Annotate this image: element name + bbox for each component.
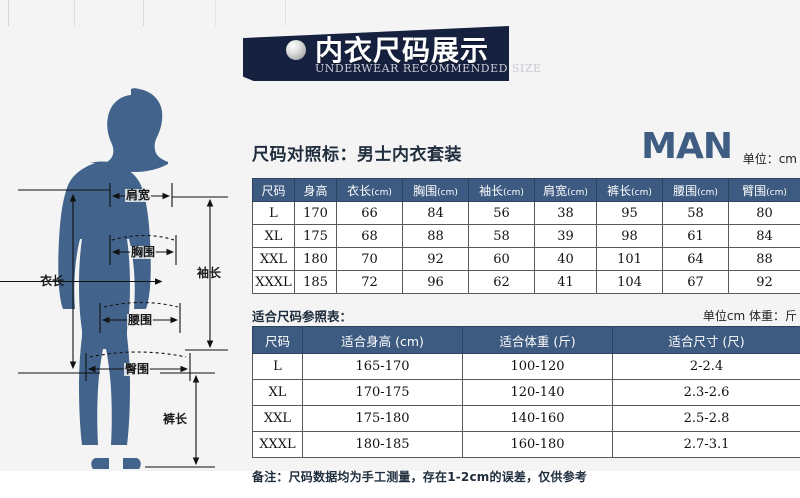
table-cell: 38 <box>535 202 597 225</box>
content-column: 尺码对照标：男士内衣套装 MAN 单位：cm 尺码身高衣长(cm)胸围(cm)袖… <box>252 128 800 485</box>
table-row: L17066845638955880 <box>253 202 800 225</box>
table-cell: 2-2.4 <box>613 354 800 380</box>
table-row: XXXL185729662411046792 <box>253 271 800 294</box>
size-table-header-cell: 袖长(cm) <box>469 179 535 202</box>
table-cell: 70 <box>337 248 403 271</box>
table-cell: 41 <box>535 271 597 294</box>
table-cell: 104 <box>597 271 663 294</box>
table-cell: 95 <box>597 202 663 225</box>
fit-table-unit-note: 单位cm 体重：斤 <box>703 307 797 324</box>
table-cell: 40 <box>535 248 597 271</box>
diagram-label-pants: 裤长 <box>162 413 188 426</box>
header-unit: (cm) <box>697 188 718 198</box>
banner-title-en: UNDERWEAR RECOMMENDED SIZE <box>315 62 542 75</box>
title-banner: 内衣尺码展示 UNDERWEAR RECOMMENDED SIZE <box>243 26 509 81</box>
table-cell: XXL <box>253 406 303 432</box>
table-cell: 2.3-2.6 <box>613 380 800 406</box>
table-row: XL17568885839986184 <box>253 225 800 248</box>
table-cell: 2.5-2.8 <box>613 406 800 432</box>
table-cell: 165-170 <box>303 354 463 380</box>
table-cell: 100-120 <box>463 354 613 380</box>
fit-table-header-cell: 适合身高 (cm) <box>303 327 463 354</box>
table-cell: 92 <box>403 248 469 271</box>
table-cell: XL <box>253 225 295 248</box>
header-unit: (cm) <box>631 188 652 198</box>
size-table-header-cell: 尺码 <box>253 179 295 202</box>
size-table-header-cell: 衣长(cm) <box>337 179 403 202</box>
table-cell: 68 <box>337 225 403 248</box>
fit-table-header-cell: 适合体重 (斤) <box>463 327 613 354</box>
table-cell: 72 <box>337 271 403 294</box>
header-unit: (cm) <box>567 188 588 198</box>
man-heading: MAN <box>641 126 732 167</box>
fit-table-head-row: 适合尺码参照表： 单位cm 体重：斤 <box>252 302 800 326</box>
table-cell: 175 <box>295 225 337 248</box>
table-cell: 180 <box>295 248 337 271</box>
table-cell: 84 <box>729 225 800 248</box>
header-unit: (cm) <box>437 188 458 198</box>
table-cell: L <box>253 202 295 225</box>
size-table-body: L17066845638955880XL17568885839986184XXL… <box>253 202 800 294</box>
size-table-header-cell: 臂围(cm) <box>729 179 800 202</box>
table-cell: 84 <box>403 202 469 225</box>
table-cell: 170-175 <box>303 380 463 406</box>
header-unit: (cm) <box>371 188 392 198</box>
size-table-header-row: 尺码身高衣长(cm)胸围(cm)袖长(cm)肩宽(cm)裤长(cm)腰围(cm)… <box>253 179 800 202</box>
banner-bullet-icon <box>286 40 306 60</box>
table-row: XXL180709260401016488 <box>253 248 800 271</box>
table-cell: 2.7-3.1 <box>613 432 800 458</box>
table-cell: 180-185 <box>303 432 463 458</box>
table-cell: 101 <box>597 248 663 271</box>
diagram-label-waist: 腰围 <box>127 314 153 327</box>
size-chart-page: 内衣尺码展示 UNDERWEAR RECOMMENDED SIZE <box>0 0 800 498</box>
measurement-diagram: 肩宽 胸围 腰围 臀围 衣长 袖长 裤长 <box>0 85 250 471</box>
unit-note: 单位：cm <box>743 150 797 167</box>
table-cell: 92 <box>729 271 800 294</box>
top-streak-artifacts <box>0 0 800 26</box>
table-cell: 39 <box>535 225 597 248</box>
size-table-header-cell: 胸围(cm) <box>403 179 469 202</box>
chart-title-row: 尺码对照标：男士内衣套装 MAN 单位：cm <box>252 128 800 178</box>
size-measurement-table: 尺码身高衣长(cm)胸围(cm)袖长(cm)肩宽(cm)裤长(cm)腰围(cm)… <box>252 178 800 294</box>
table-cell: 66 <box>337 202 403 225</box>
fit-table-title: 适合尺码参照表： <box>252 306 352 325</box>
table-cell: 88 <box>403 225 469 248</box>
table-cell: 88 <box>729 248 800 271</box>
chart-title: 尺码对照标：男士内衣套装 <box>252 140 462 165</box>
diagram-label-length: 衣长 <box>39 275 65 288</box>
table-cell: XXL <box>253 248 295 271</box>
fit-reference-table: 尺码适合身高 (cm)适合体重 (斤)适合尺寸 (尺) L165-170100-… <box>252 326 800 458</box>
table-cell: XXXL <box>253 271 295 294</box>
diagram-label-hip: 臀围 <box>124 363 150 376</box>
table-cell: 175-180 <box>303 406 463 432</box>
table-cell: 58 <box>469 225 535 248</box>
table-cell: 140-160 <box>463 406 613 432</box>
size-table-header-cell: 裤长(cm) <box>597 179 663 202</box>
table-row: XL170-175120-1402.3-2.6 <box>253 380 800 406</box>
table-cell: 62 <box>469 271 535 294</box>
table-cell: 67 <box>663 271 729 294</box>
header-unit: (cm) <box>503 188 524 198</box>
table-cell: 170 <box>295 202 337 225</box>
size-table-header-cell: 身高 <box>295 179 337 202</box>
table-cell: 64 <box>663 248 729 271</box>
fit-table-header-row: 尺码适合身高 (cm)适合体重 (斤)适合尺寸 (尺) <box>253 327 800 354</box>
table-cell: 61 <box>663 225 729 248</box>
diagram-label-shoulder: 肩宽 <box>125 189 151 202</box>
table-cell: 120-140 <box>463 380 613 406</box>
fit-table-header-cell: 适合尺寸 (尺) <box>613 327 800 354</box>
header-unit: (cm) <box>766 188 787 198</box>
table-cell: XXXL <box>253 432 303 458</box>
table-cell: 96 <box>403 271 469 294</box>
size-table-header-cell: 肩宽(cm) <box>535 179 597 202</box>
table-cell: 60 <box>469 248 535 271</box>
footnote: 备注：尺码数据均为手工测量，存在1-2cm的误差，仅供参考 <box>252 468 800 485</box>
table-cell: 185 <box>295 271 337 294</box>
table-row: L165-170100-1202-2.4 <box>253 354 800 380</box>
table-cell: XL <box>253 380 303 406</box>
table-row: XXXL180-185160-1802.7-3.1 <box>253 432 800 458</box>
table-cell: 160-180 <box>463 432 613 458</box>
fit-table-body: L165-170100-1202-2.4XL170-175120-1402.3-… <box>253 354 800 458</box>
table-cell: 56 <box>469 202 535 225</box>
diagram-label-chest: 胸围 <box>130 246 156 259</box>
table-cell: 98 <box>597 225 663 248</box>
fit-table-header-cell: 尺码 <box>253 327 303 354</box>
table-cell: 80 <box>729 202 800 225</box>
table-cell: 58 <box>663 202 729 225</box>
diagram-label-sleeve: 袖长 <box>196 267 222 280</box>
table-cell: L <box>253 354 303 380</box>
size-table-header-cell: 腰围(cm) <box>663 179 729 202</box>
table-row: XXL175-180140-1602.5-2.8 <box>253 406 800 432</box>
